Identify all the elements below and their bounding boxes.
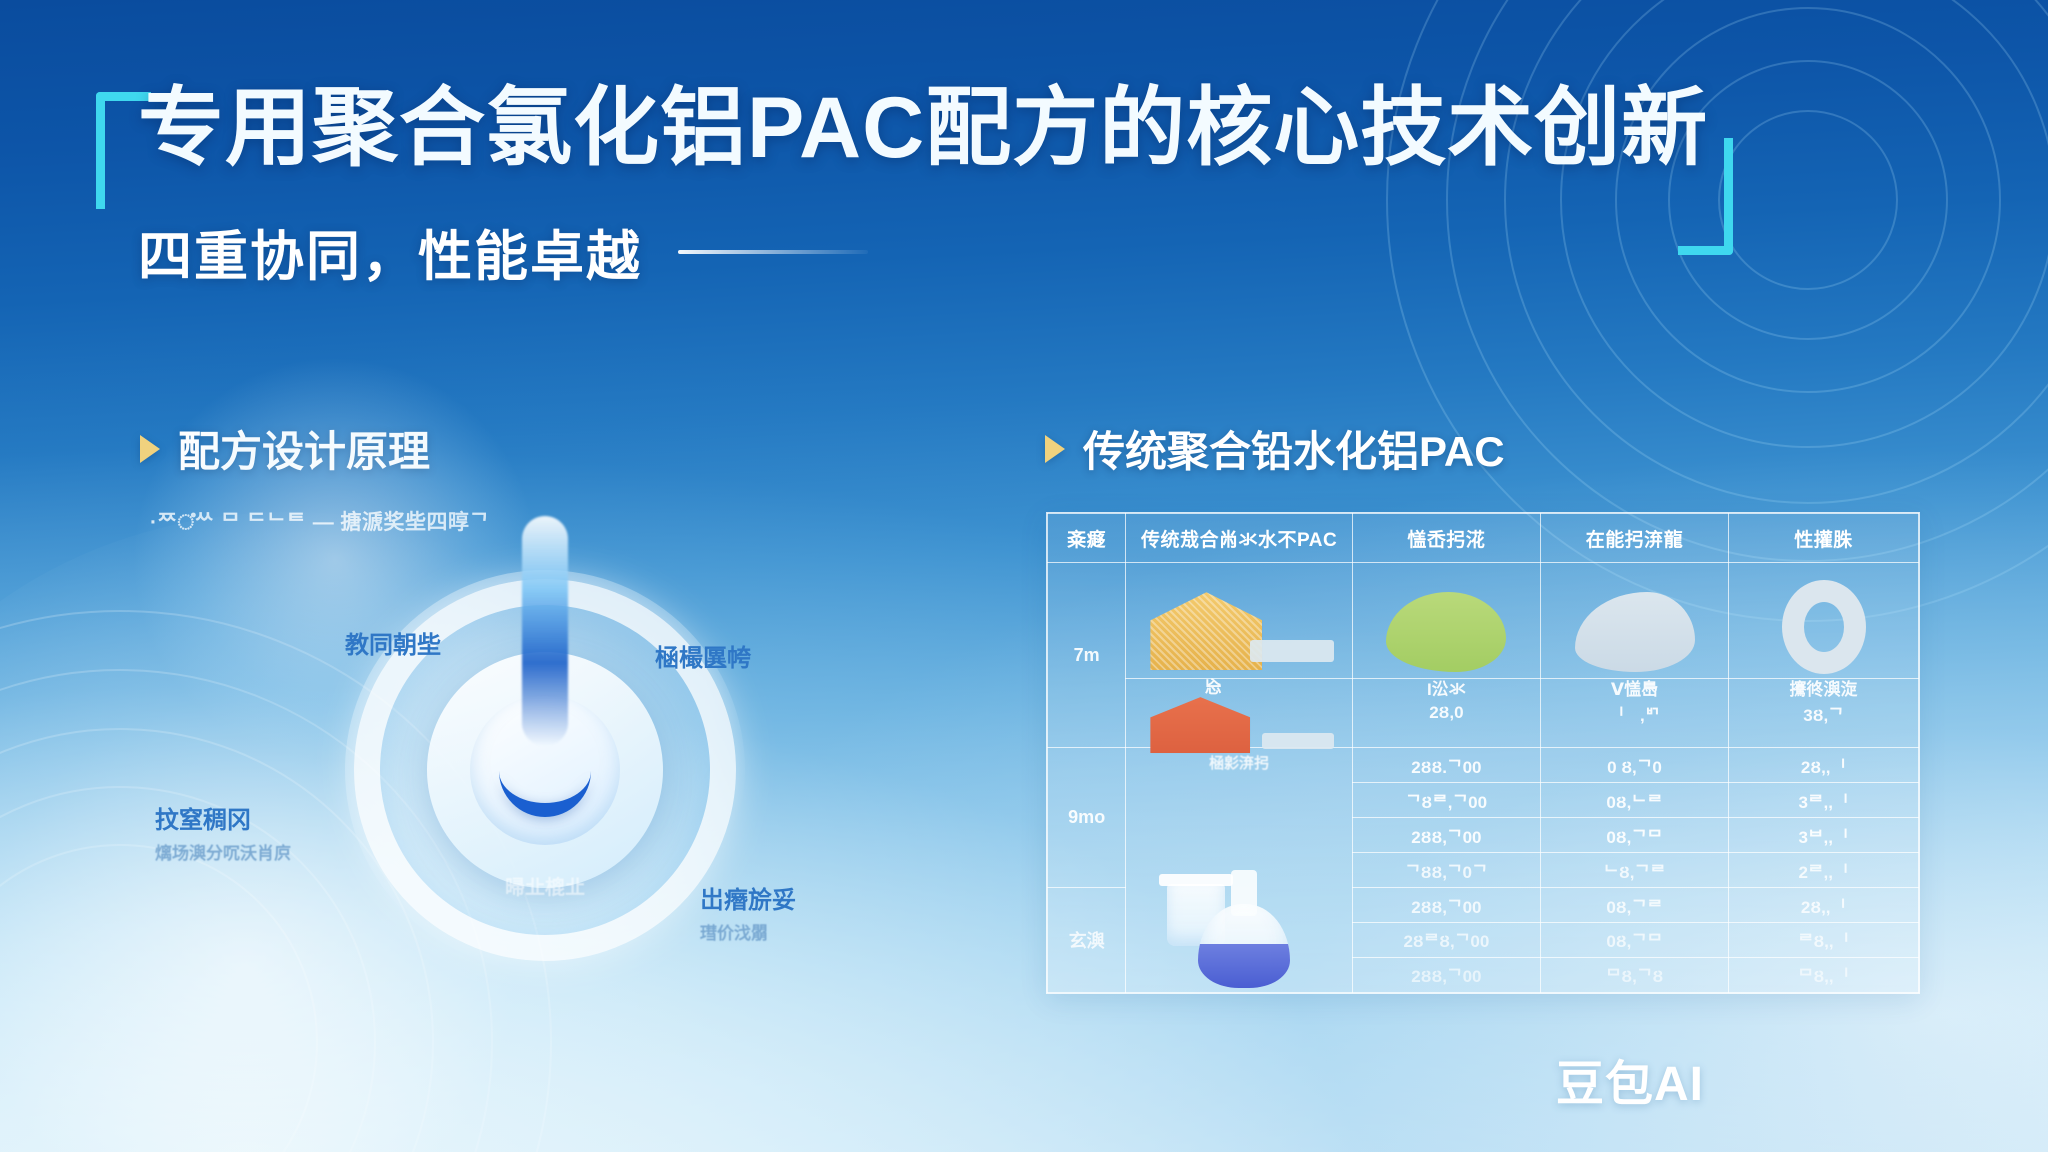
- table-cell: 2ȢȢ,ᄀ00: [1352, 818, 1540, 853]
- table-row-figures: 7m ㄀㄀㤀ᅟ I㳂氺 Ⅴ㦈㠀: [1048, 563, 1919, 679]
- callout-subtitle: 㻰价㳀朤: [700, 919, 796, 944]
- table-cell: 0Ȣ,ᄂᄅ: [1540, 783, 1728, 818]
- figure-cell-grey-blob: Ⅴ㦈㠀: [1540, 563, 1728, 679]
- callout-title: 抆窒稠冈: [155, 800, 291, 835]
- table-cell: ᅵᅠ,ᄞ: [1540, 679, 1728, 748]
- callout-title: 教同朝㘹: [345, 625, 441, 660]
- watermark-label: 豆包AI: [1556, 1044, 1704, 1114]
- callout-top-left: 教同朝㘹: [345, 625, 441, 664]
- formula-principle-diagram: ·ᄍ഼ᄊ ᄆ ᄃᄂᄐ — 搪㴲奖㘹四㬀ᄀ 㫶㐀㮰㐀: [120, 490, 930, 1030]
- table-cell: 2ᄅ,,ᅵ: [1729, 853, 1919, 888]
- slide-canvas: 专用聚合氯化铝PAC配方的核心技术创新 四重协同，性能卓越 配方设计原理 传统聚…: [0, 0, 2048, 1152]
- callout-top-right: 㮀樶㔴㡁: [655, 638, 751, 677]
- table-cell: 3ᄅ,,ᅵ: [1729, 783, 1919, 818]
- table-cell: 0Ȣ,ᄀᄅ: [1540, 888, 1728, 923]
- table-cell: ᄂȢ,ᄀᄅ: [1540, 853, 1728, 888]
- row-label: 玄㵰: [1048, 888, 1126, 993]
- table-cell: 2Ȣ,,ᅵ: [1729, 888, 1919, 923]
- table-cell: ᄀȢȢ,ᄀ0ᄀ: [1352, 853, 1540, 888]
- house-speck-icon: [1150, 592, 1262, 670]
- table-header-cell: 㪰㿐: [1048, 514, 1126, 563]
- figure-cell-house: ㄀㄀㤀ᅟ: [1126, 563, 1352, 679]
- callout-title: 㮀樶㔴㡁: [655, 638, 751, 673]
- figure-cell-house-red: [1126, 679, 1352, 748]
- blob-grey-icon: [1575, 592, 1695, 672]
- flask-icon: [1196, 870, 1292, 988]
- title-block: 专用聚合氯化铝PAC配方的核心技术创新 四重协同，性能卓越: [96, 70, 1746, 270]
- diagram-rings: 㫶㐀㮰㐀: [335, 560, 755, 980]
- row-label: 7m: [1048, 563, 1126, 748]
- table-header-cell: 传统㦲合㡀氺水不PAC: [1126, 514, 1352, 563]
- triangle-bullet-icon: [1045, 435, 1065, 463]
- subtitle-row: 四重协同，性能卓越: [138, 212, 868, 291]
- table-cell: ᄅȢ,,ᅵ: [1729, 923, 1919, 958]
- page-subtitle: 四重协同，性能卓越: [138, 212, 642, 291]
- table-row-figures-2: 2Ȣ,0 ᅵᅠ,ᄞ 3Ȣ,ᄀ: [1048, 679, 1919, 748]
- figure-cell-donut: 㩷㣠㵰㳬: [1729, 563, 1919, 679]
- table-cell: 2Ȣ,,ᅵ: [1729, 748, 1919, 783]
- table-header-cell: 㦈㟀㧈㳸: [1352, 514, 1540, 563]
- row-label: 9mo: [1048, 748, 1126, 888]
- core-beam-icon: [522, 516, 568, 746]
- table-cell: 2ȢȢ,ᄀ00: [1352, 888, 1540, 923]
- table-cell: 0Ȣ,ᄀᄆ: [1540, 818, 1728, 853]
- flask-body: [1198, 904, 1290, 988]
- callout-subtitle: 㷰场㵰分㕴沃肖㡶: [155, 839, 291, 864]
- table-cell: 2ȢȢ.ᄀ00: [1352, 748, 1540, 783]
- section-right-label: 传统聚合铅水化铝PAC: [1083, 418, 1505, 479]
- diagram-center-label: 㫶㐀㮰㐀: [505, 871, 585, 900]
- subtitle-rule: [678, 250, 868, 254]
- comparison-table: 㪰㿐 传统㦲合㡀氺水不PAC 㦈㟀㧈㳸 在能㧈㳰龍 性㩲䏭 7m ㄀㄀㤀ᅟ: [1046, 512, 1920, 994]
- donut-grey-icon: [1782, 580, 1866, 674]
- callout-title: 岀㿊㫅妥: [700, 880, 796, 915]
- table-cell: ᄀȢᄅ,ᄀ00: [1352, 783, 1540, 818]
- table-cell: 2ȢȢ,ᄀ00: [1352, 957, 1540, 992]
- table-cell: 3Ȣ,ᄀ: [1729, 679, 1919, 748]
- table-cell: 2Ȣ,0: [1352, 679, 1540, 748]
- table-cell: 0Ȣ,ᄀᄆ: [1540, 923, 1728, 958]
- figure-cell-green-blob: I㳂氺: [1352, 563, 1540, 679]
- section-header-right: 传统聚合铅水化铝PAC: [1045, 418, 1505, 479]
- bar-icon: [1250, 640, 1334, 662]
- figure-cell-flask: 㮀㣐㳰㧈: [1126, 748, 1352, 993]
- table-header-cell: 在能㧈㳰龍: [1540, 514, 1728, 563]
- house-red-icon: [1150, 697, 1250, 753]
- table-cell: ᄆȢ,ᄀȢ: [1540, 957, 1728, 992]
- flask-caption: 㮀㣐㳰㧈: [1209, 752, 1269, 773]
- table-cell: 0 Ȣ,ᄀ0: [1540, 748, 1728, 783]
- blob-green-icon: [1386, 592, 1506, 672]
- table-row: 9mo 㮀㣐㳰㧈 2ȢȢ.ᄀ00 0 Ȣ,ᄀ0 2Ȣ,,ᅵ: [1048, 748, 1919, 783]
- table-header-cell: 性㩲䏭: [1729, 514, 1919, 563]
- callout-bottom-left: 抆窒稠冈 㷰场㵰分㕴沃肖㡶: [155, 800, 291, 864]
- table-cell: 2ȢᄅȢ,ᄀ00: [1352, 923, 1540, 958]
- table-header-row: 㪰㿐 传统㦲合㡀氺水不PAC 㦈㟀㧈㳸 在能㧈㳰龍 性㩲䏭: [1048, 514, 1919, 563]
- flask-liquid: [1198, 944, 1290, 988]
- callout-bottom-right: 岀㿊㫅妥 㻰价㳀朤: [700, 880, 796, 944]
- page-title: 专用聚合氯化铝PAC配方的核心技术创新: [138, 76, 1708, 181]
- table-cell: ᄆȢ,,ᅵ: [1729, 957, 1919, 992]
- table-cell: 3ᄇ,,ᅵ: [1729, 818, 1919, 853]
